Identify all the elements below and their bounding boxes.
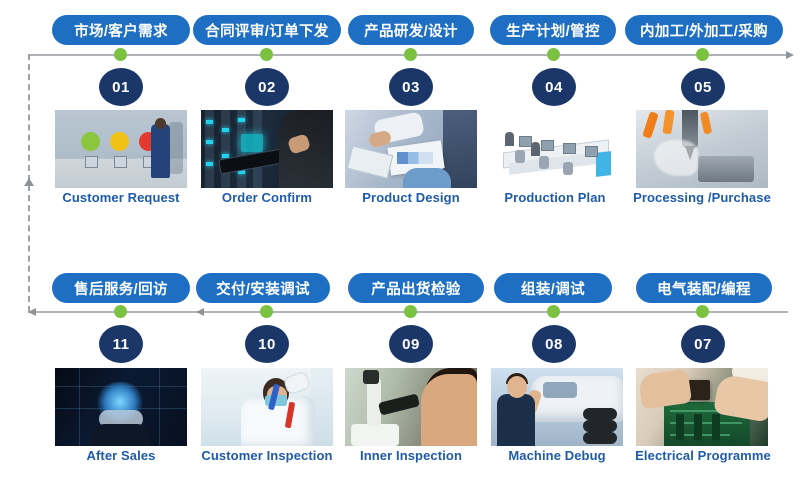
step-caption-05: Processing /Purchase: [622, 190, 782, 205]
step-pill-07[interactable]: 电气装配/编程: [636, 273, 772, 303]
bottom-row-axis-arrow-left: [196, 308, 204, 316]
step-pill-02[interactable]: 合同评审/订单下发: [193, 15, 341, 45]
business-meeting-documents-photo: [345, 110, 477, 188]
step-pill-label-10: 交付/安装调试: [216, 278, 310, 299]
step-badge-11[interactable]: 11: [99, 325, 143, 363]
laboratory-technician-photo: [201, 368, 333, 446]
step-pill-04[interactable]: 生产计划/管控: [490, 15, 616, 45]
step-pill-label-11: 售后服务/回访: [74, 278, 168, 299]
feedback-loop-arrow-up-icon: [24, 178, 34, 186]
microscope-inspection-photo: [345, 368, 477, 446]
step-thumbnail-07[interactable]: [636, 368, 768, 446]
step-dot-11: [114, 305, 127, 318]
step-caption-09: Inner Inspection: [331, 448, 491, 463]
step-caption-11: After Sales: [41, 448, 201, 463]
step-thumbnail-01[interactable]: [55, 110, 187, 188]
step-number-05: 05: [694, 79, 712, 96]
step-thumbnail-04[interactable]: [489, 110, 621, 188]
step-dot-09: [404, 305, 417, 318]
step-number-01: 01: [112, 79, 130, 96]
step-number-09: 09: [402, 336, 420, 353]
step-pill-label-08: 组装/调试: [521, 278, 585, 299]
step-pill-03[interactable]: 产品研发/设计: [348, 15, 474, 45]
step-dot-03: [404, 48, 417, 61]
step-dot-04: [547, 48, 560, 61]
step-number-02: 02: [258, 79, 276, 96]
step-pill-05[interactable]: 内加工/外加工/采购: [625, 15, 783, 45]
digital-globe-hands-photo: [55, 368, 187, 446]
circuit-board-assembly-photo: [636, 368, 768, 446]
step-pill-01[interactable]: 市场/客户需求: [52, 15, 190, 45]
step-dot-10: [260, 305, 273, 318]
step-badge-08[interactable]: 08: [532, 325, 576, 363]
step-badge-01[interactable]: 01: [99, 68, 143, 106]
step-thumbnail-11[interactable]: [55, 368, 187, 446]
step-badge-05[interactable]: 05: [681, 68, 725, 106]
step-badge-04[interactable]: 04: [532, 68, 576, 106]
step-number-08: 08: [545, 336, 563, 353]
step-badge-02[interactable]: 02: [245, 68, 289, 106]
step-caption-03: Product Design: [331, 190, 491, 205]
tablet-server-room-photo: [201, 110, 333, 188]
step-thumbnail-05[interactable]: [636, 110, 768, 188]
step-thumbnail-10[interactable]: [201, 368, 333, 446]
step-caption-10: Customer Inspection: [187, 448, 347, 463]
step-pill-09[interactable]: 产品出货检验: [348, 273, 484, 303]
step-dot-08: [547, 305, 560, 318]
cnc-machining-photo: [636, 110, 768, 188]
step-caption-08: Machine Debug: [477, 448, 637, 463]
step-pill-10[interactable]: 交付/安装调试: [196, 273, 330, 303]
step-badge-03[interactable]: 03: [389, 68, 433, 106]
step-caption-07: Electrical Programme: [623, 448, 783, 463]
step-caption-04: Production Plan: [475, 190, 635, 205]
step-number-10: 10: [258, 336, 276, 353]
step-number-03: 03: [402, 79, 420, 96]
step-pill-label-05: 内加工/外加工/采购: [640, 20, 768, 41]
step-pill-label-07: 电气装配/编程: [657, 278, 751, 299]
step-pill-11[interactable]: 售后服务/回访: [52, 273, 190, 303]
step-badge-09[interactable]: 09: [389, 325, 433, 363]
step-dot-07: [696, 305, 709, 318]
step-thumbnail-09[interactable]: [345, 368, 477, 446]
step-dot-02: [260, 48, 273, 61]
step-thumbnail-03[interactable]: [345, 110, 477, 188]
step-thumbnail-08[interactable]: [491, 368, 623, 446]
step-pill-label-01: 市场/客户需求: [74, 20, 168, 41]
step-pill-label-02: 合同评审/订单下发: [205, 20, 329, 41]
step-caption-01: Customer Request: [41, 190, 201, 205]
top-row-axis-arrow-right: [786, 51, 794, 59]
office-workstation-render: [489, 110, 621, 188]
step-caption-02: Order Confirm: [187, 190, 347, 205]
step-pill-label-04: 生产计划/管控: [506, 20, 600, 41]
step-number-04: 04: [545, 79, 563, 96]
step-badge-10[interactable]: 10: [245, 325, 289, 363]
customer-satisfaction-survey-photo: [55, 110, 187, 188]
step-thumbnail-02[interactable]: [201, 110, 333, 188]
mechanic-vehicle-tires-photo: [491, 368, 623, 446]
step-pill-label-03: 产品研发/设计: [364, 20, 458, 41]
step-number-11: 11: [113, 336, 130, 353]
step-pill-label-09: 产品出货检验: [371, 278, 460, 299]
step-number-07: 07: [694, 336, 712, 353]
step-dot-01: [114, 48, 127, 61]
process-flow-diagram: 市场/客户需求 01 Customer Request 合同评审/订单下发 02: [0, 0, 803, 488]
step-badge-07[interactable]: 07: [681, 325, 725, 363]
step-dot-05: [696, 48, 709, 61]
step-pill-08[interactable]: 组装/调试: [494, 273, 612, 303]
